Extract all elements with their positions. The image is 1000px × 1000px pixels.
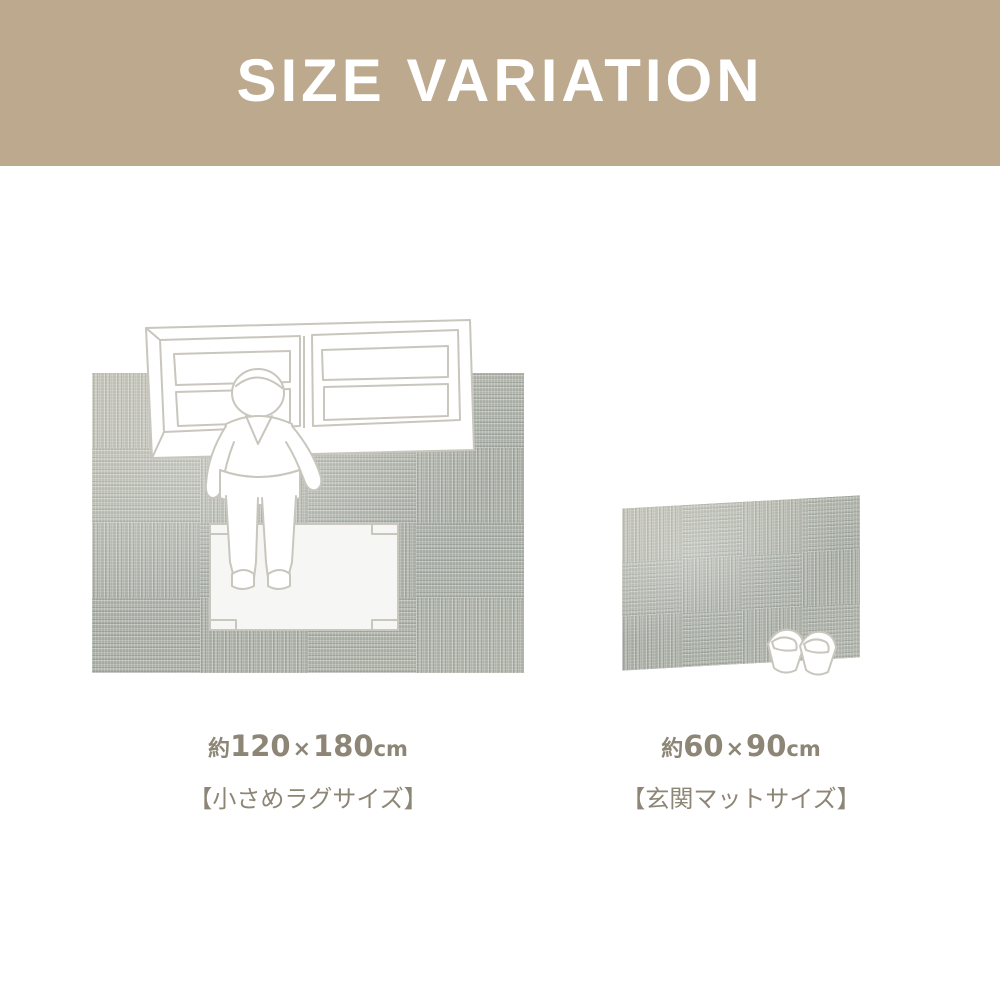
- large-rug-dimension: 約120×180cm: [108, 729, 508, 763]
- dimension-unit: cm: [374, 737, 408, 761]
- times-symbol: ×: [724, 737, 746, 762]
- dimension-width: 60: [683, 729, 723, 763]
- dimension-height: 90: [746, 729, 786, 763]
- small-mat-sublabel: 【玄関マットサイズ】: [581, 779, 901, 814]
- page-title: SIZE VARIATION: [236, 51, 763, 115]
- page-root: SIZE VARIATION: [0, 0, 1000, 1000]
- header-banner: SIZE VARIATION: [0, 0, 1000, 166]
- times-symbol: ×: [291, 737, 313, 762]
- slippers-illustration: [762, 618, 842, 682]
- dimension-width: 120: [230, 729, 291, 763]
- scene-area: 約120×180cm 【小さめラグサイズ】 約60×90cm 【玄関マットサイズ…: [0, 166, 1000, 1000]
- small-mat-dimension: 約60×90cm: [581, 729, 901, 763]
- person-illustration: [196, 366, 346, 594]
- small-mat-caption: 約60×90cm 【玄関マットサイズ】: [581, 729, 901, 814]
- approx-symbol: 約: [208, 737, 230, 762]
- dimension-unit: cm: [786, 737, 820, 761]
- dimension-height: 180: [313, 729, 374, 763]
- large-rug-sublabel: 【小さめラグサイズ】: [108, 779, 508, 814]
- approx-symbol: 約: [661, 737, 683, 762]
- large-rug-caption: 約120×180cm 【小さめラグサイズ】: [108, 729, 508, 814]
